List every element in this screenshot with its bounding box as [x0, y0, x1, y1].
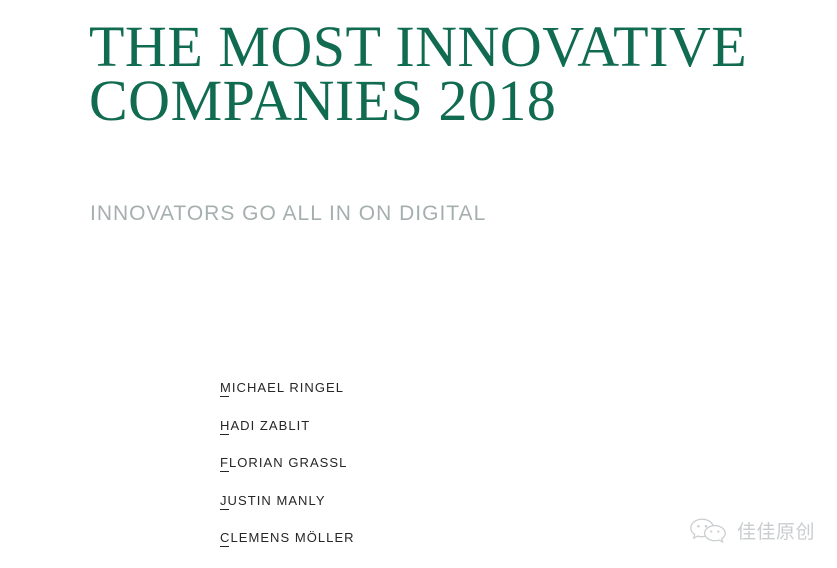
- author-list: MICHAEL RINGEL HADI ZABLIT FLORIAN GRASS…: [220, 380, 540, 568]
- author-name: JUSTIN MANLY: [220, 493, 326, 508]
- wechat-speech-bubble-icon: [688, 515, 728, 545]
- watermark-text: 佳佳原创: [737, 517, 815, 544]
- author-item: MICHAEL RINGEL: [220, 380, 540, 418]
- author-name: FLORIAN GRASSL: [220, 455, 347, 470]
- cover-page: THE MOST INNOVATIVE COMPANIES 2018 INNOV…: [0, 0, 837, 563]
- title-line-1: THE MOST INNOVATIVE: [89, 20, 789, 74]
- author-name: MICHAEL RINGEL: [220, 380, 344, 395]
- author-item: JUSTIN MANLY: [220, 493, 540, 531]
- watermark: 佳佳原创: [688, 515, 815, 545]
- author-underline-accent: [220, 396, 229, 397]
- author-underline-accent: [220, 471, 229, 472]
- page-title: THE MOST INNOVATIVE COMPANIES 2018: [89, 20, 789, 128]
- author-name: HADI ZABLIT: [220, 418, 310, 433]
- title-line-2: COMPANIES 2018: [89, 74, 789, 128]
- author-item: HADI ZABLIT: [220, 418, 540, 456]
- author-item: CLEMENS MÖLLER: [220, 530, 540, 568]
- author-underline-accent: [220, 434, 229, 435]
- author-underline-accent: [220, 546, 229, 547]
- author-item: FLORIAN GRASSL: [220, 455, 540, 493]
- author-name: CLEMENS MÖLLER: [220, 530, 355, 545]
- page-subtitle: INNOVATORS GO ALL IN ON DIGITAL: [90, 202, 486, 226]
- author-underline-accent: [220, 509, 229, 510]
